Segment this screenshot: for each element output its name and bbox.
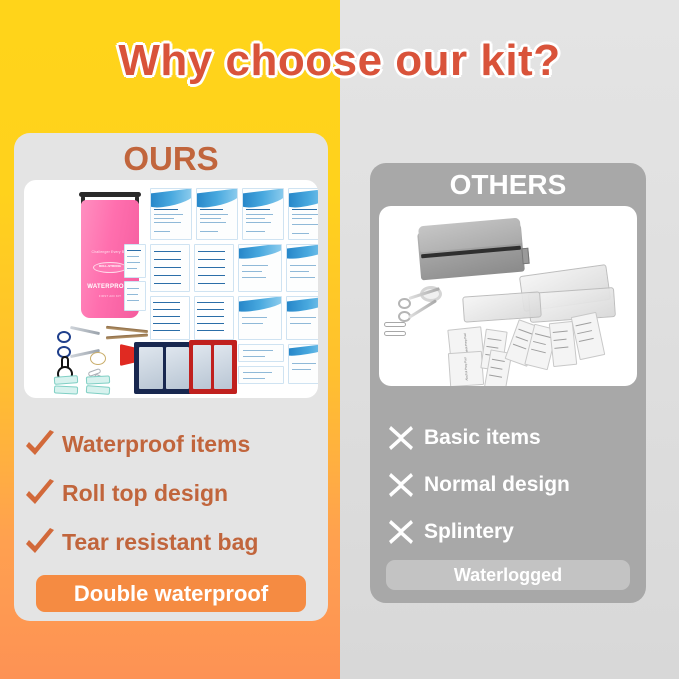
bandage-strip <box>54 375 78 385</box>
sachet-item <box>150 188 192 240</box>
feature-label: Basic items <box>424 426 541 450</box>
sachet-item <box>286 244 318 292</box>
feature-row: Splintery <box>386 508 636 555</box>
feature-label: Splintery <box>424 520 514 544</box>
red-pouch <box>189 340 237 394</box>
bag-badge-label: ROLL-STRONG <box>94 263 126 270</box>
others-card: OTHERS <box>370 163 646 603</box>
navy-pouch <box>134 342 194 394</box>
sachet-item <box>150 244 190 292</box>
sachet-item <box>238 366 284 384</box>
tweezers-icon <box>106 326 148 333</box>
ours-product-photo: Challenger Every Bag ROLL-STRONG WATERPR… <box>24 180 318 398</box>
bandage-strip <box>86 375 110 384</box>
sachet-item <box>196 188 238 240</box>
ours-card: OURS Challenger Every Bag ROLL-STRONG WA… <box>14 133 328 621</box>
check-icon <box>22 428 58 462</box>
scissors-icon <box>57 331 71 343</box>
alcohol-prep-pad: Alcohol Prep Pad <box>448 351 484 386</box>
sachet-item <box>124 281 146 311</box>
sachet-label: Alcohol Prep Pad <box>463 357 469 380</box>
safety-pin-icon <box>384 322 406 327</box>
ours-feature-list: Waterproof items Roll top design Tear re… <box>22 420 322 567</box>
feature-row: Tear resistant bag <box>22 518 322 567</box>
sachet-item <box>242 188 284 240</box>
scissors-blade-1 <box>70 326 100 335</box>
sachet-item <box>150 296 190 340</box>
sachet-item <box>238 244 282 292</box>
bandage-strip <box>86 385 110 395</box>
feature-row: Basic items <box>386 414 636 461</box>
bandage-strip <box>54 385 78 394</box>
others-highlight-pill[interactable]: Waterlogged <box>386 560 630 590</box>
feature-row: Waterproof items <box>22 420 322 469</box>
sachet-item <box>288 344 318 384</box>
feature-row: Roll top design <box>22 469 322 518</box>
cross-icon <box>386 470 416 500</box>
feature-row: Normal design <box>386 461 636 508</box>
gray-pouch-zipper-pull <box>521 248 529 265</box>
scissors-blade-2 <box>408 299 437 319</box>
sachet-item <box>286 296 318 340</box>
tweezers-arm-2 <box>106 334 148 340</box>
sachet-item <box>124 244 146 278</box>
gauze-bag <box>462 291 542 322</box>
sachet-item <box>238 344 284 362</box>
feature-label: Normal design <box>424 473 570 497</box>
safety-pin-icon <box>384 331 406 336</box>
cross-icon <box>386 423 416 453</box>
ours-title: OURS <box>14 140 328 178</box>
ours-highlight-pill[interactable]: Double waterproof <box>36 575 306 612</box>
sachet-item <box>194 296 234 340</box>
others-product-photo: Alcohol Prep Pad Alcohol Prep Pad <box>379 206 637 386</box>
bag-strap-icon <box>79 192 141 197</box>
feature-label: Roll top design <box>62 480 228 507</box>
cross-icon <box>386 517 416 547</box>
bag-logo-badge: ROLL-STRONG <box>93 262 127 273</box>
sachet-item <box>238 296 282 340</box>
others-feature-list: Basic items Normal design Splintery <box>386 414 636 555</box>
carabiner-hook <box>61 356 69 368</box>
page-title: Why choose our kit? <box>0 36 679 86</box>
others-title: OTHERS <box>370 169 646 201</box>
sachet-item <box>194 244 234 292</box>
check-icon <box>22 477 58 511</box>
feature-label: Waterproof items <box>62 431 250 458</box>
key-ring-icon <box>90 352 106 365</box>
feature-label: Tear resistant bag <box>62 529 258 556</box>
check-icon <box>22 526 58 560</box>
sachet-item <box>288 188 318 240</box>
comparison-infographic: Why choose our kit? OURS Challenger Ever… <box>0 0 679 679</box>
